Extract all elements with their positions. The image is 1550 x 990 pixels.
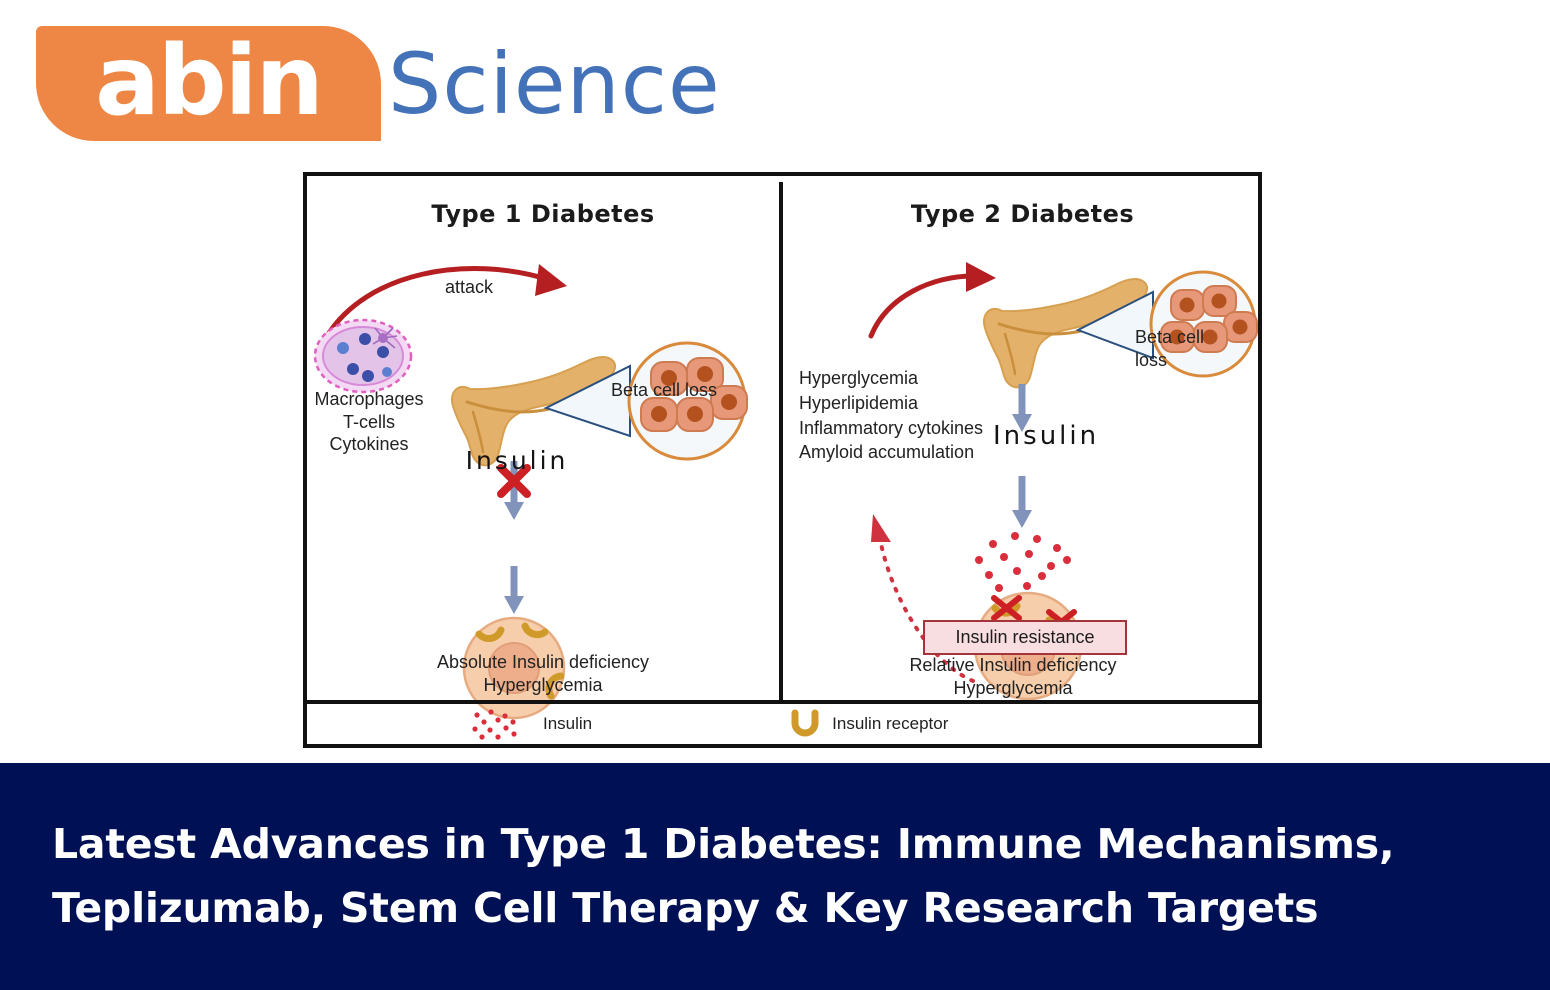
immune-cell-icon (315, 320, 411, 392)
driver-line-3: Inflammatory cytokines (799, 416, 983, 441)
immune-label-line-2: T-cells (307, 411, 431, 434)
logo-abin-text: abin (36, 26, 381, 141)
insulin-receptor-icon (788, 709, 822, 739)
type-2-outcome-line-2: Hyperglycemia (783, 677, 1243, 700)
insulin-dots-icon (467, 707, 533, 741)
driver-line-1: Hyperglycemia (799, 366, 983, 391)
legend-item-insulin: Insulin (467, 707, 592, 741)
legend-label-insulin-receptor: Insulin receptor (832, 714, 948, 734)
insulin-arrow-bottom-icon (1012, 476, 1032, 528)
driver-line-4: Amyloid accumulation (799, 440, 983, 465)
legend-label-insulin: Insulin (543, 714, 592, 734)
figure-panels: Type 1 Diabetes (307, 176, 1258, 704)
type-2-outcome-line-1: Relative Insulin deficiency (783, 654, 1243, 677)
beta-cell-label-line-2: loss (1135, 349, 1204, 372)
panel-type-1-diabetes: Type 1 Diabetes (307, 176, 779, 704)
type-2-beta-cell-loss-label: Beta cell loss (1135, 326, 1204, 373)
type-1-outcome: Absolute Insulin deficiency Hyperglycemi… (307, 651, 779, 696)
attack-label: attack (445, 276, 493, 299)
beta-cell-label-line-1: Beta cell (1135, 326, 1204, 349)
type-1-outcome-line-1: Absolute Insulin deficiency (307, 651, 779, 674)
legend-item-insulin-receptor: Insulin receptor (788, 709, 948, 739)
driver-line-2: Hyperlipidemia (799, 391, 983, 416)
type-2-outcome: Relative Insulin deficiency Hyperglycemi… (783, 654, 1243, 699)
banner-title-line-2: Teplizumab, Stem Cell Therapy & Key Rese… (52, 877, 1550, 941)
panel-title-type-2: Type 2 Diabetes (783, 200, 1262, 228)
beta-cell-loss-label: Beta cell loss (611, 379, 717, 402)
type-2-driver-list: Hyperglycemia Hyperlipidemia Inflammator… (799, 366, 983, 465)
diabetes-comparison-figure: Type 1 Diabetes (303, 172, 1262, 748)
article-title-banner: Latest Advances in Type 1 Diabetes: Immu… (0, 763, 1550, 990)
immune-label-line-1: Macrophages (307, 388, 431, 411)
type-1-outcome-line-2: Hyperglycemia (307, 674, 779, 697)
insulin-molecules-icon (975, 532, 1071, 592)
logo-science-text: Science (388, 40, 721, 128)
type-2-insulin-label: Insulin (993, 421, 1099, 451)
type-1-insulin-label: Insulin (307, 446, 727, 475)
figure-legend: Insulin Insulin receptor (307, 700, 1258, 744)
insulin-down-arrow-icon (504, 566, 524, 614)
panel-type-2-diabetes: Type 2 Diabetes (783, 176, 1262, 704)
insulin-resistance-box: Insulin resistance (923, 620, 1127, 655)
panel-title-type-1: Type 1 Diabetes (307, 200, 779, 228)
banner-title-line-1: Latest Advances in Type 1 Diabetes: Immu… (52, 813, 1550, 877)
stress-arrow-icon (871, 262, 996, 336)
site-logo[interactable]: abin Science (36, 26, 796, 146)
